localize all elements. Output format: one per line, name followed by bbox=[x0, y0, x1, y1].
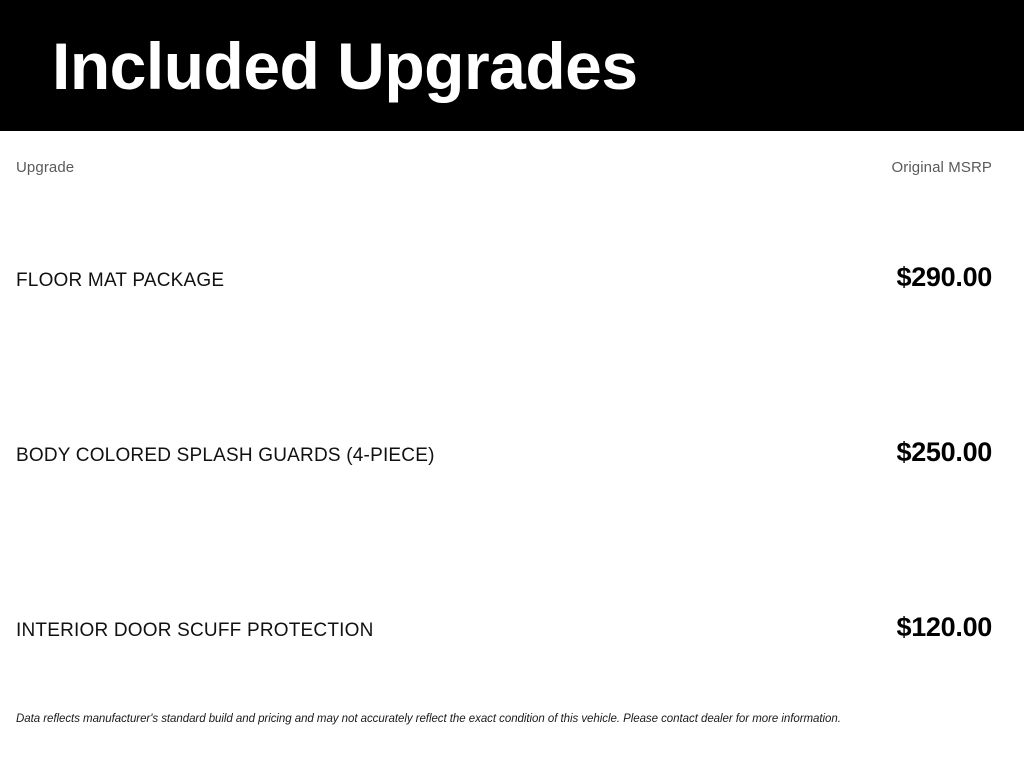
upgrade-price: $250.00 bbox=[897, 437, 993, 468]
upgrade-price: $120.00 bbox=[897, 612, 993, 643]
disclaimer-text: Data reflects manufacturer's standard bu… bbox=[16, 712, 992, 727]
page-title: Included Upgrades bbox=[52, 33, 638, 99]
table-row: FLOOR MAT PACKAGE $290.00 bbox=[16, 262, 992, 293]
upgrade-name: FLOOR MAT PACKAGE bbox=[16, 270, 224, 292]
column-header-upgrade: Upgrade bbox=[16, 159, 74, 176]
page-header-band: Included Upgrades bbox=[0, 0, 1024, 131]
column-header-original-msrp: Original MSRP bbox=[892, 159, 993, 176]
upgrade-name: BODY COLORED SPLASH GUARDS (4-PIECE) bbox=[16, 445, 435, 467]
upgrade-price: $290.00 bbox=[897, 262, 993, 293]
table-header-row: Upgrade Original MSRP bbox=[16, 159, 992, 176]
table-row: BODY COLORED SPLASH GUARDS (4-PIECE) $25… bbox=[16, 437, 992, 468]
upgrades-table: Upgrade Original MSRP FLOOR MAT PACKAGE … bbox=[0, 131, 1024, 768]
included-upgrades-page: Included Upgrades Upgrade Original MSRP … bbox=[0, 0, 1024, 768]
table-row: INTERIOR DOOR SCUFF PROTECTION $120.00 bbox=[16, 612, 992, 643]
upgrade-name: INTERIOR DOOR SCUFF PROTECTION bbox=[16, 620, 374, 642]
